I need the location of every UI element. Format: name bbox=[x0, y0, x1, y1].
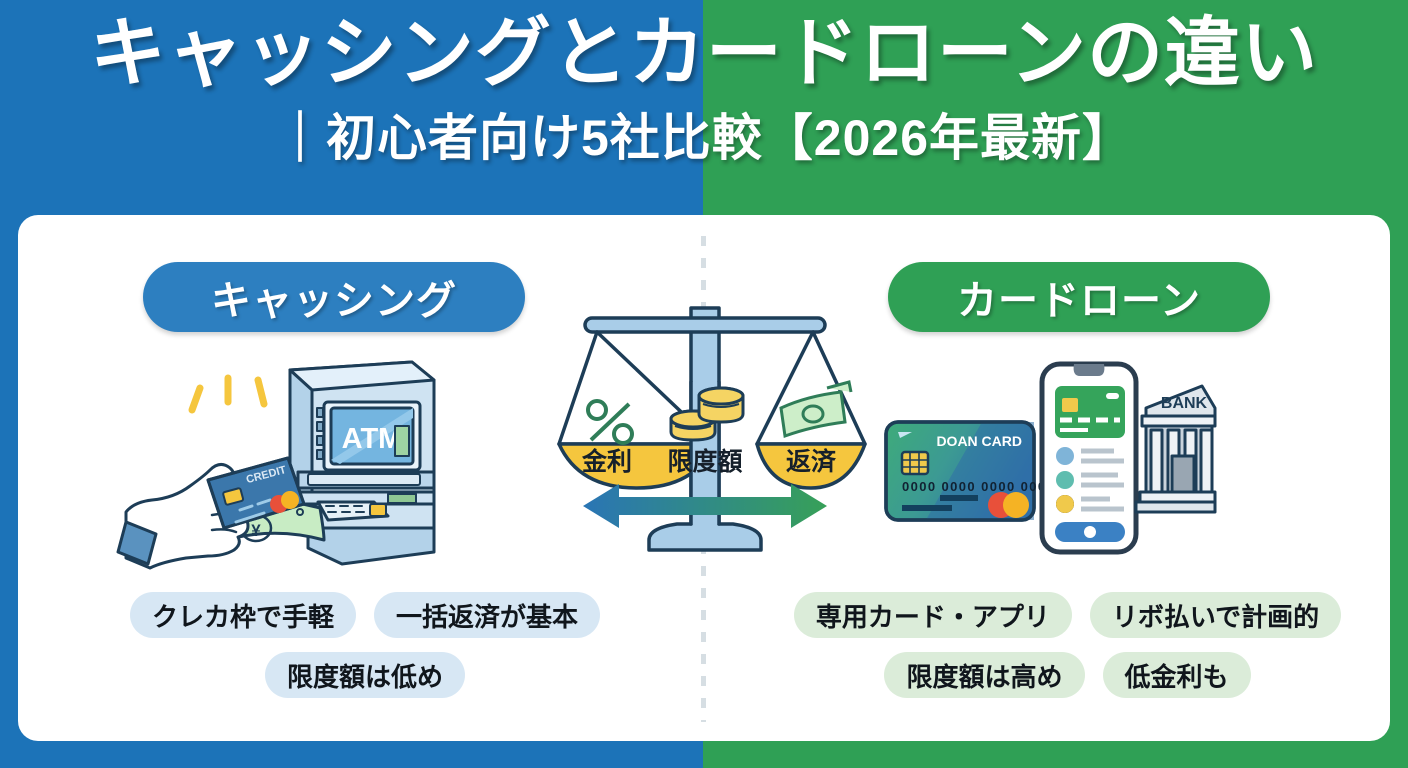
subtitle-divider-bar: ｜ bbox=[275, 98, 326, 170]
page-title: キャッシングとカードローンの違い bbox=[90, 14, 1318, 94]
bank-label: BANK bbox=[1161, 395, 1208, 412]
smartphone-app bbox=[1042, 364, 1136, 552]
scale-label-repayment: 返済 bbox=[786, 447, 837, 476]
scale-label-limit: 限度額 bbox=[667, 447, 742, 476]
atm-screen-label: ATM bbox=[342, 423, 403, 455]
card-brand-label: DOAN CARD bbox=[936, 433, 1022, 449]
tag-item[interactable]: 専用カード・アプリ bbox=[794, 592, 1072, 638]
loan-credit-card: DOAN CARD 0000 0000 0000 0000 bbox=[886, 422, 1055, 520]
banknote-yen-symbol: ¥ bbox=[251, 521, 261, 540]
cashing-tag-list: クレカ枠で手軽 一括返済が基本 限度額は低め bbox=[75, 592, 655, 698]
tag-item[interactable]: 限度額は低め bbox=[265, 652, 465, 698]
cardloan-illustration: DOAN CARD 0000 0000 0000 0000 bbox=[870, 350, 1215, 570]
header: キャッシングとカードローンの違い ｜ 初心者向け5社比較【2026年最新】 bbox=[0, 0, 1408, 215]
page-subtitle: 初心者向け5社比較【2026年最新】 bbox=[326, 98, 1133, 170]
scale-label-interest: 金利 bbox=[581, 447, 632, 476]
infographic-canvas: キャッシングとカードローンの違い ｜ 初心者向け5社比較【2026年最新】 キャ… bbox=[0, 0, 1408, 768]
coin-stack-icon bbox=[671, 388, 743, 440]
bank-building: BANK bbox=[1136, 386, 1215, 512]
card-number-label: 0000 0000 0000 0000 bbox=[902, 479, 1055, 494]
tag-item[interactable]: クレカ枠で手軽 bbox=[130, 592, 356, 638]
section-pill-cashing[interactable]: キャッシング bbox=[143, 262, 525, 332]
cardloan-tag-list: 専用カード・アプリ リボ払いで計画的 限度額は高め 低金利も bbox=[775, 592, 1360, 698]
tag-item[interactable]: 限度額は高め bbox=[884, 652, 1084, 698]
tag-item[interactable]: 低金利も bbox=[1103, 652, 1251, 698]
subtitle-row: ｜ 初心者向け5社比較【2026年最新】 bbox=[275, 98, 1133, 170]
balance-scale-illustration: 金利 限度額 返済 bbox=[545, 292, 865, 562]
atm-illustration: ATM ¥ bbox=[112, 352, 442, 572]
tag-item[interactable]: リボ払いで計画的 bbox=[1090, 592, 1341, 638]
section-pill-cardloan[interactable]: カードローン bbox=[888, 262, 1270, 332]
tag-item[interactable]: 一括返済が基本 bbox=[374, 592, 600, 638]
